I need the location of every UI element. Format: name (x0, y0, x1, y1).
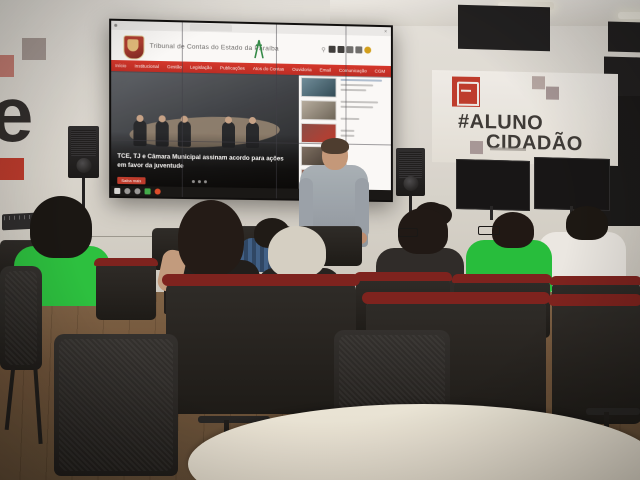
auditorium-chair-trim (94, 258, 158, 266)
wall-monitor-left (456, 159, 530, 211)
sign-decor-square (546, 86, 559, 99)
bezel-seam (276, 25, 277, 199)
aluno-cidadao-sign: #ALUNO CIDADÃO (432, 70, 618, 166)
rss-icon[interactable] (364, 47, 371, 54)
speaker-woofer (403, 176, 418, 191)
nav-item[interactable]: Institucional (130, 63, 163, 69)
attendee-hair (566, 206, 608, 240)
news-text-line (341, 130, 355, 132)
slide-dot[interactable] (204, 180, 207, 183)
nav-item[interactable]: CGM (371, 69, 389, 74)
attendee-hair (178, 200, 244, 276)
file-explorer-icon[interactable] (145, 188, 151, 194)
hero-photo-person (225, 116, 232, 123)
auditorium-chair-trim (362, 292, 550, 304)
nav-item[interactable]: Email (316, 67, 335, 72)
wall-monitor-right (534, 157, 610, 211)
office-chair (0, 266, 42, 370)
hero-photo-person (249, 117, 256, 124)
sign-decor-square (532, 76, 545, 89)
instagram-icon[interactable] (355, 46, 362, 53)
news-text-line (341, 135, 355, 137)
news-link-line[interactable] (341, 79, 383, 82)
close-icon[interactable]: × (384, 29, 387, 35)
news-text-line (341, 118, 360, 120)
news-thumbnail[interactable] (301, 77, 337, 98)
wall-decor-square (22, 38, 46, 60)
hero-slide-dots[interactable] (192, 180, 207, 183)
crest-inner-icon (127, 39, 138, 51)
twitter-icon[interactable] (338, 46, 345, 53)
browser-menu-icon[interactable] (114, 24, 117, 27)
attendee-hair (30, 196, 92, 258)
browser-tab[interactable] (190, 24, 232, 32)
slide-dot[interactable] (192, 180, 195, 183)
search-icon[interactable]: ⚲ (321, 47, 325, 54)
glasses-icon (478, 226, 500, 235)
search-icon[interactable] (124, 188, 130, 194)
auditorium-chair (166, 282, 356, 414)
auditorium-chair-trim (452, 274, 552, 283)
browser-icon[interactable] (155, 189, 161, 195)
aluno-cidadao-text: CIDADÃO (486, 131, 583, 156)
wall-decor-square (0, 158, 24, 180)
office-chair (54, 334, 178, 476)
hero-cta-button[interactable]: Saiba mais (117, 177, 145, 184)
news-text-line (341, 89, 367, 92)
bezel-seam (182, 22, 183, 197)
nav-item[interactable]: Atos do Contas (249, 66, 288, 72)
wall-letter-e: e (0, 80, 33, 148)
presenter-hair (321, 138, 349, 154)
ceiling-light (618, 12, 640, 19)
speaker-woofer (76, 158, 91, 173)
speaker-right (396, 148, 425, 196)
green-ribbon-icon (252, 38, 266, 60)
start-icon[interactable] (114, 188, 120, 194)
hero-headline: TCE, TJ e Câmara Municipal assinam acord… (117, 153, 292, 173)
nav-item[interactable]: Comunicação (335, 68, 371, 74)
auditorium-chair (96, 262, 156, 320)
wall-decor-square (0, 55, 14, 77)
auditorium-chair-trim (354, 272, 452, 281)
sign-decor-square (470, 141, 483, 154)
chair-mesh (5, 271, 37, 365)
task-view-icon[interactable] (134, 188, 140, 194)
nav-item[interactable]: Fale Conosco (389, 69, 391, 75)
auditorium-chair (552, 302, 640, 424)
chair-mesh (59, 339, 173, 471)
news-thumbnail[interactable] (301, 100, 337, 121)
auditorium-photo: e #ALUNO CIDADÃO × Tribunal de Contas do… (0, 0, 640, 480)
slide-dot[interactable] (198, 180, 201, 183)
speaker-left (68, 126, 99, 178)
youtube-icon[interactable] (346, 46, 353, 53)
hero-banner[interactable]: TCE, TJ e Câmara Municipal assinam acord… (111, 71, 299, 193)
glasses-icon (398, 228, 418, 237)
auditorium-chair-trim (550, 276, 640, 285)
acoustic-panel (608, 22, 640, 53)
nav-item[interactable]: Início (111, 63, 130, 68)
hero-photo-person (159, 115, 166, 122)
attendee-hair (268, 226, 326, 278)
auditorium-chair-trim (162, 274, 360, 286)
backpack-strap-icon (461, 90, 471, 92)
facebook-icon[interactable] (329, 46, 336, 53)
nav-item[interactable]: Legislação (186, 65, 216, 71)
auditorium-chair-trim (548, 294, 640, 306)
hero-photo-person (136, 115, 143, 122)
nav-item[interactable]: Publicações (216, 65, 249, 71)
backpack-icon (457, 82, 479, 106)
monitor-stand (490, 206, 493, 220)
speaker-grille (399, 152, 422, 178)
acoustic-panel (458, 5, 550, 52)
speaker-grille (71, 130, 96, 156)
nav-item[interactable]: Ouvidoria (288, 67, 316, 73)
chair-armrest (586, 408, 640, 415)
